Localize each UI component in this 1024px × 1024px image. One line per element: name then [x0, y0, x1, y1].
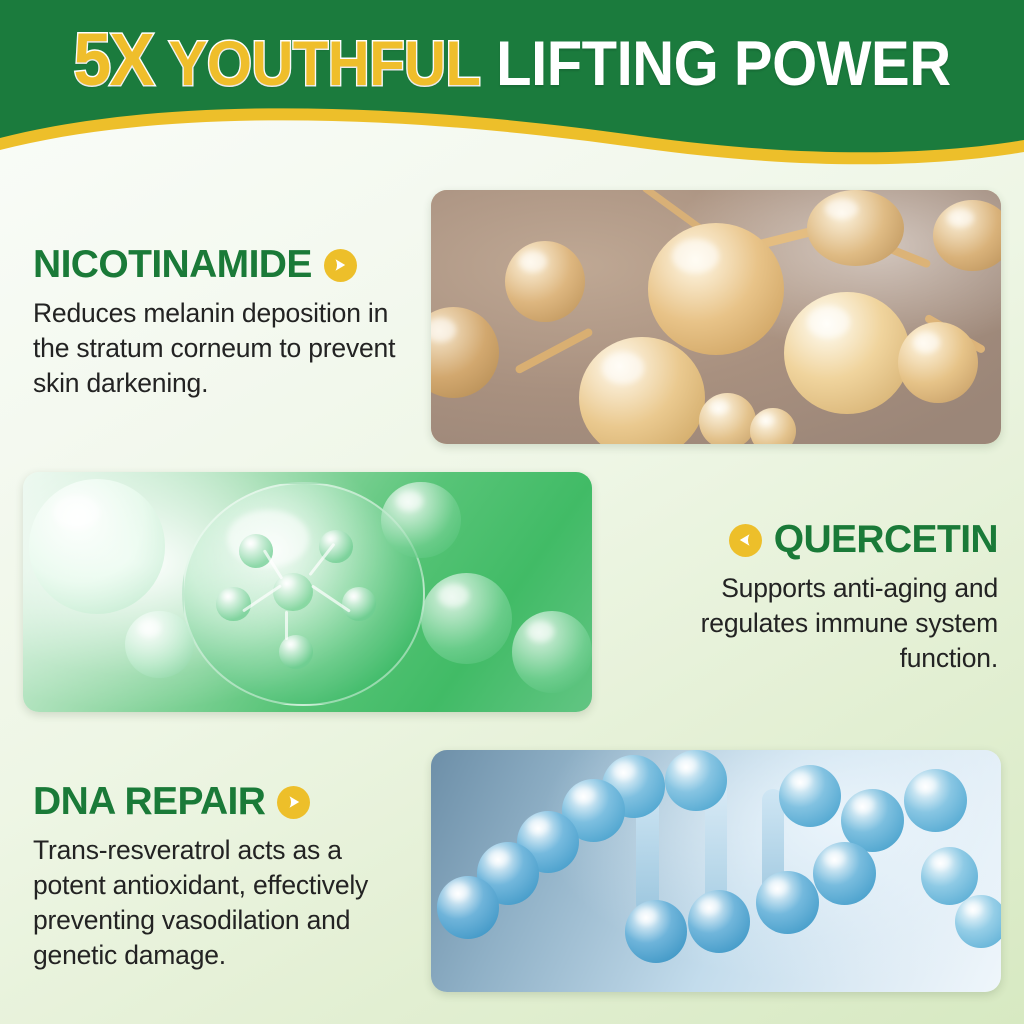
image-panel-quercetin [23, 472, 592, 712]
section-heading-dna: DNA REPAIR [33, 780, 265, 824]
section-body-dna: Trans-resveratrol acts as a potent antio… [33, 833, 418, 973]
title-part-lifting-power: LIFTING POWER [496, 29, 950, 99]
heading-row-nicotinamide: NICOTINAMIDE [33, 243, 425, 287]
arrow-right-icon[interactable] [324, 249, 357, 282]
green-molecule-image [23, 472, 592, 712]
arrow-left-icon[interactable] [729, 524, 762, 557]
infographic-canvas: 5X YOUTHFUL LIFTING POWER [0, 0, 1024, 1024]
title-part-5x: 5X [73, 18, 153, 101]
image-panel-dna [431, 750, 1001, 992]
image-panel-nicotinamide [431, 190, 1001, 444]
section-quercetin: QUERCETIN Supports anti-aging and regula… [668, 518, 998, 676]
section-heading-quercetin: QUERCETIN [774, 518, 998, 562]
title-part-youthful: YOUTHFUL [169, 29, 481, 99]
section-body-nicotinamide: Reduces melanin deposition in the stratu… [33, 296, 425, 401]
heading-row-dna: DNA REPAIR [33, 780, 418, 824]
section-heading-nicotinamide: NICOTINAMIDE [33, 243, 312, 287]
page-title: 5X YOUTHFUL LIFTING POWER [41, 25, 983, 99]
section-nicotinamide: NICOTINAMIDE Reduces melanin deposition … [33, 243, 425, 401]
arrow-right-icon[interactable] [277, 786, 310, 819]
section-body-quercetin: Supports anti-aging and regulates immune… [668, 571, 998, 676]
heading-row-quercetin: QUERCETIN [668, 518, 998, 562]
gold-molecule-image [431, 190, 1001, 444]
section-dna: DNA REPAIR Trans-resveratrol acts as a p… [33, 780, 418, 973]
dna-helix-image [431, 750, 1001, 992]
